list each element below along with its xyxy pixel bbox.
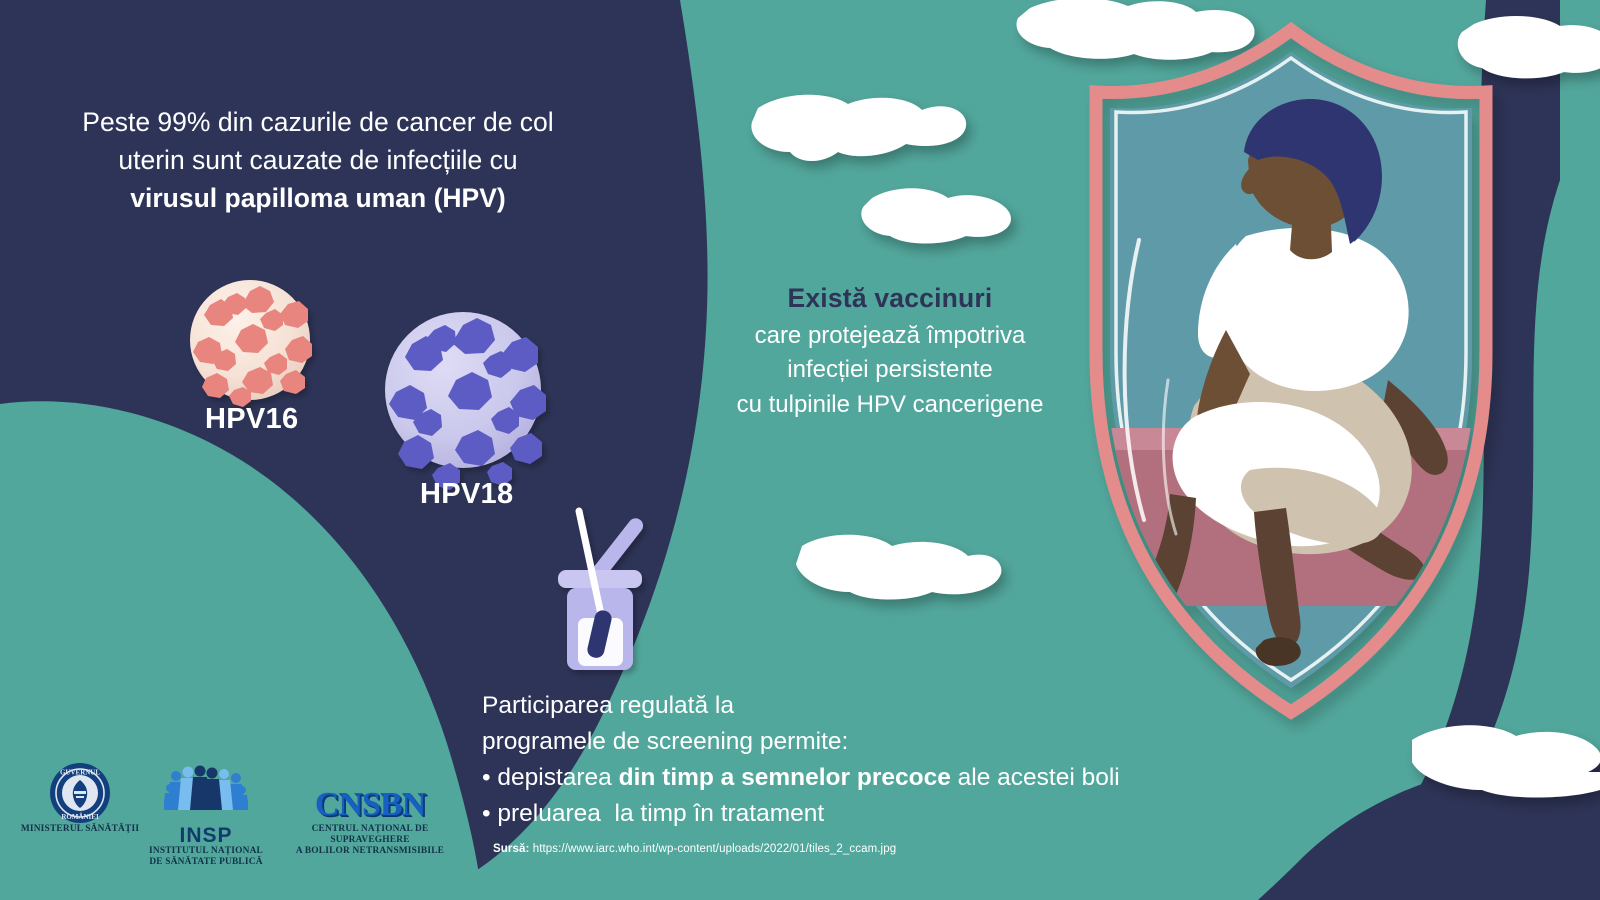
screening-text-block: Participarea regulată la programele de s… [482,688,1282,832]
logo-caption: INSTITUTUL NAȚIONAL DE SĂNĂTATE PUBLICĂ [136,846,276,868]
logo-caption: CENTRUL NAȚIONAL DE SUPRAVEGHERE A BOLIL… [272,824,468,857]
headline-line-1: Peste 99% din cazurile de cancer de col [82,107,553,137]
screening-line-2: programele de screening permite: [482,724,1282,760]
cnsbn-wordmark: CNSBN [315,786,425,824]
logo-caption-line-2: A BOLILOR NETRANSMISIBILE [296,846,444,856]
headline-line-3-bold: virusul papilloma uman (HPV) [130,183,505,213]
logo-caption-line-1: CENTRUL NAȚIONAL DE SUPRAVEGHERE [312,824,429,845]
vaccine-line-2: infecției persistente [787,356,992,383]
insp-wordmark: INSP [136,825,276,846]
source-label: Sursă: [493,843,529,855]
logo-bar: GUVERNUL ROMÂNIEI MINISTERUL SĂNĂTĂȚII [0,762,470,867]
logo-caption-line-1: MINISTERUL SĂNĂTĂȚII [21,824,139,834]
hpv16-label: HPV16 [205,403,298,436]
screening-line-1: Participarea regulată la [482,688,1282,724]
infographic-canvas: Peste 99% din cazurile de cancer de col … [0,0,1600,900]
logo-caption-line-2: DE SĂNĂTATE PUBLICĂ [149,857,262,867]
screening-bullet-1: • depistarea din timp a semnelor precoce… [482,760,1282,796]
vaccine-line-3: cu tulpinile HPV cancerigene [737,391,1044,418]
bullet-1-pre: • depistarea [482,764,619,791]
headline-line-2: uterin sunt cauzate de infecțiile cu [118,145,517,175]
logo-caption-line-1: INSTITUTUL NAȚIONAL [149,846,263,856]
svg-text:GUVERNUL: GUVERNUL [60,769,100,777]
logo-insp: INSP INSTITUTUL NAȚIONAL DE SĂNĂTATE PUB… [136,762,276,868]
romania-government-seal-icon: GUVERNUL ROMÂNIEI [18,762,142,824]
svg-text:ROMÂNIEI: ROMÂNIEI [61,813,99,821]
cnsbn-wordmark-icon: CNSBN [272,762,468,824]
bullet-1-post: ale acestei boli [951,764,1120,791]
logo-cnsbn: CNSBN CENTRUL NAȚIONAL DE SUPRAVEGHERE A… [272,762,468,857]
headline-text: Peste 99% din cazurile de cancer de col … [38,103,598,217]
source-url[interactable]: https://www.iarc.who.int/wp-content/uplo… [529,843,896,855]
vaccine-line-1: care protejează împotriva [755,322,1026,349]
insp-people-icon [136,762,276,824]
source-citation: Sursă: https://www.iarc.who.int/wp-conte… [493,843,896,855]
bullet-1-bold: din timp a semnelor precoce [619,764,951,791]
vaccine-heading: Există vaccinuri [700,281,1080,316]
screening-bullet-2: • preluarea la timp în tratament [482,796,1282,832]
logo-caption: MINISTERUL SĂNĂTĂȚII [18,824,142,835]
vaccine-text-block: Există vaccinuri care protejează împotri… [700,281,1080,422]
hpv16-virus-particle [190,280,312,407]
hpv18-label: HPV18 [420,478,513,511]
logo-ministry-of-health: GUVERNUL ROMÂNIEI MINISTERUL SĂNĂTĂȚII [18,762,142,835]
